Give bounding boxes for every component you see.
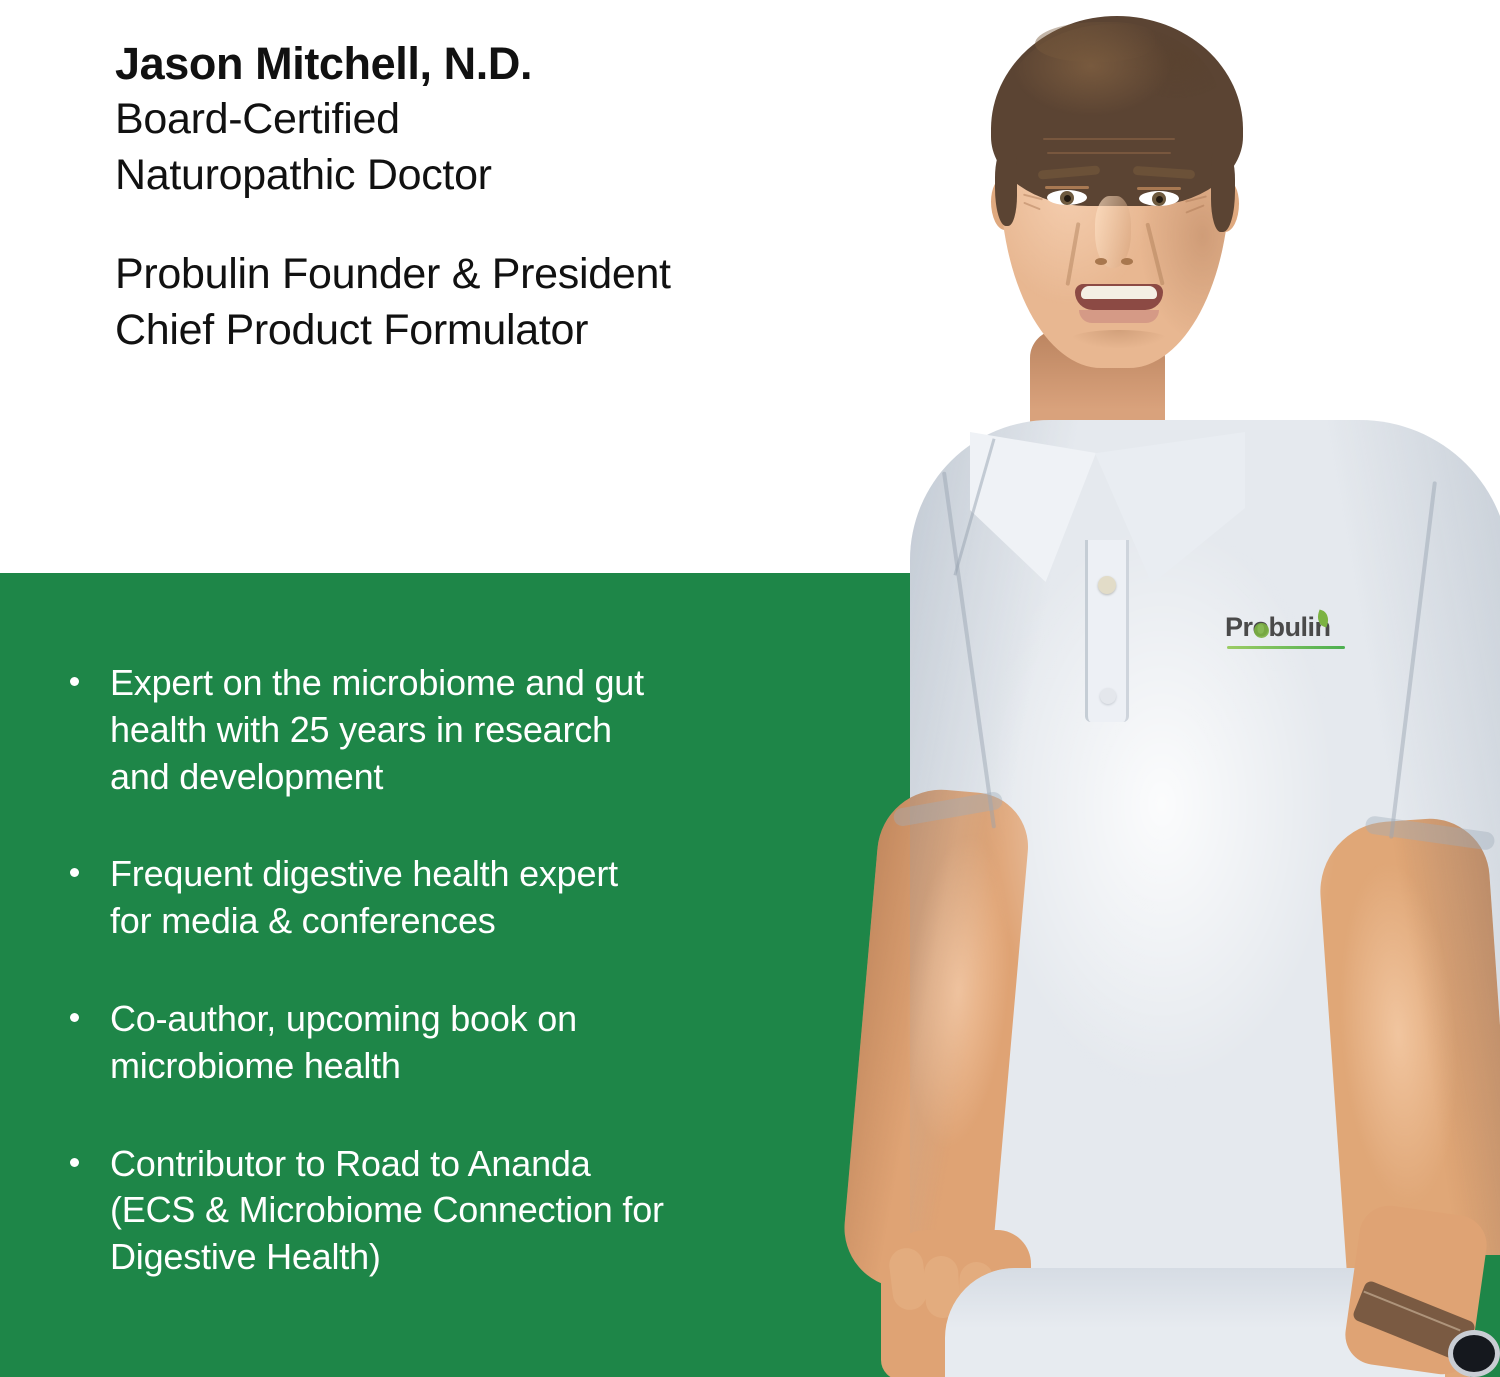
nostril-right (1121, 258, 1133, 265)
nostril-left (1095, 258, 1107, 265)
pupil-left (1064, 195, 1071, 202)
watch-face (1448, 1330, 1500, 1377)
teeth (1081, 286, 1157, 299)
forehead-line (1043, 138, 1175, 140)
header-spacer (115, 204, 945, 246)
iris-left (1060, 191, 1074, 205)
chin-shadow (1071, 330, 1167, 348)
hair-part (1035, 22, 1155, 62)
logo-underline (1227, 646, 1345, 649)
eyelid-left (1045, 186, 1089, 189)
mouth (1075, 284, 1163, 310)
credential-line-2: Naturopathic Doctor (115, 148, 945, 204)
shirt-button-bottom (1100, 688, 1116, 704)
bullet-text: Co-author, upcoming book on microbiome h… (110, 996, 822, 1090)
bullet-text: Expert on the microbiome and gut health … (110, 660, 822, 800)
shirt-button-top (1098, 576, 1116, 594)
list-item: Contributor to Road to Ananda (ECS & Mic… (62, 1141, 822, 1281)
bullet-text: Contributor to Road to Ananda (ECS & Mic… (110, 1141, 822, 1281)
eyelid-right (1137, 187, 1181, 190)
role-line-1: Probulin Founder & President (115, 246, 945, 303)
pupil-right (1156, 196, 1163, 203)
bullet-dot-icon (70, 1158, 79, 1167)
sideburn-right (1211, 150, 1235, 232)
credentials-bullet-list: Expert on the microbiome and gut health … (62, 660, 822, 1281)
eye-left (1047, 190, 1087, 205)
forehead-line (1047, 152, 1171, 154)
list-item: Co-author, upcoming book on microbiome h… (62, 996, 822, 1090)
profile-card: Jason Mitchell, N.D. Board-Certified Nat… (0, 0, 1500, 1377)
bullet-dot-icon (70, 1013, 79, 1022)
bullet-dot-icon (70, 868, 79, 877)
logo-sphere-accent-icon (1254, 623, 1269, 638)
list-item: Expert on the microbiome and gut health … (62, 660, 822, 800)
credential-line-1: Board-Certified (115, 92, 945, 148)
probulin-wordmark: Probulin (1225, 614, 1355, 641)
header-text-block: Jason Mitchell, N.D. Board-Certified Nat… (115, 36, 945, 359)
list-item: Frequent digestive health expert for med… (62, 851, 822, 945)
sideburn-left (995, 150, 1017, 226)
eye-right (1139, 191, 1179, 206)
probulin-chest-logo: Probulin (1225, 614, 1355, 664)
bullet-dot-icon (70, 677, 79, 686)
person-name: Jason Mitchell, N.D. (115, 36, 945, 92)
bullet-text: Frequent digestive health expert for med… (110, 851, 822, 945)
lower-lip (1079, 310, 1159, 323)
role-line-2: Chief Product Formulator (115, 302, 945, 359)
iris-right (1152, 192, 1166, 206)
